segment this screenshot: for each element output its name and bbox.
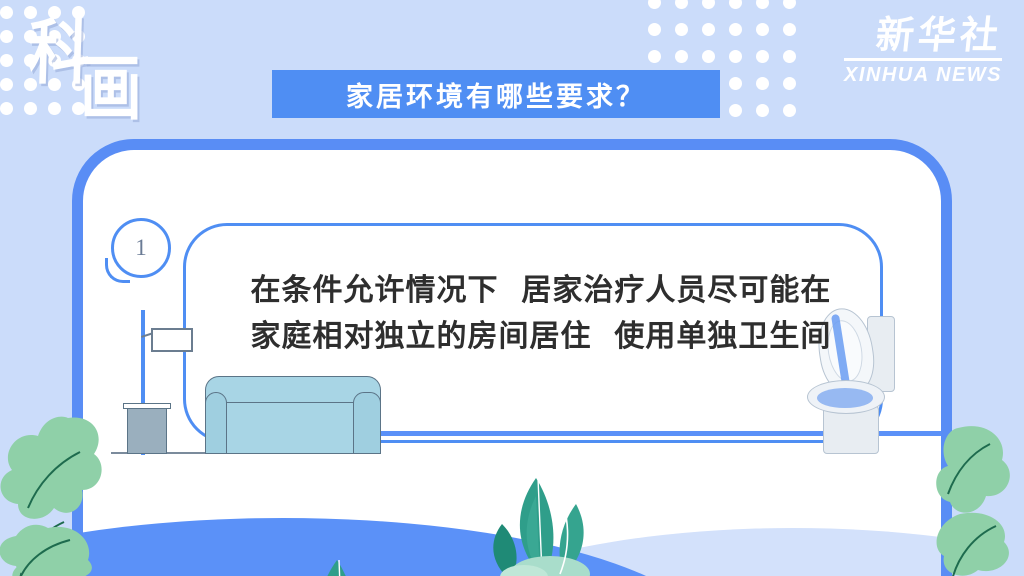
dot (648, 0, 661, 9)
dot (648, 23, 661, 36)
side-table-icon (127, 408, 167, 454)
dot (0, 30, 13, 43)
body-text-line-1: 在条件允许情况下 居家治疗人员尽可能在 (201, 268, 881, 314)
xinhua-logo-chinese: 新华社 (842, 16, 1004, 56)
dot (729, 0, 742, 9)
program-logo: 科 画 (28, 16, 163, 126)
dot (0, 78, 13, 91)
sofa-arm-right-icon (353, 392, 381, 454)
floor-lamp-shade-icon (151, 328, 193, 352)
plant-cluster-bottom-center (478, 470, 628, 576)
dot (729, 50, 742, 63)
plant-cluster-outer-left-lower (0, 520, 140, 576)
dot (756, 0, 769, 9)
dot (675, 50, 688, 63)
poster-canvas: 科 画 新华社 XINHUA NEWS 家居环境有哪些要求？ 1 在条件允许情况… (0, 0, 1024, 576)
dot (756, 104, 769, 117)
body-text-line-2: 家庭相对独立的房间居住 使用单独卫生间 (201, 314, 881, 360)
side-table-top-icon (123, 403, 171, 409)
step-number-badge: 1 (111, 218, 171, 278)
dot (783, 50, 796, 63)
dot (0, 54, 13, 67)
plant-cluster-inner-left (263, 538, 453, 576)
dot (648, 50, 661, 63)
dot (756, 23, 769, 36)
dot (756, 50, 769, 63)
dot (729, 104, 742, 117)
xinhua-logo-english: XINHUA NEWS (844, 64, 1002, 87)
dot (675, 0, 688, 9)
body-text: 在条件允许情况下 居家治疗人员尽可能在 家庭相对独立的房间居住 使用单独卫生间 (201, 268, 881, 359)
dot (729, 77, 742, 90)
program-logo-char-1: 科 (27, 17, 87, 88)
dot (702, 23, 715, 36)
step-number-label: 1 (135, 235, 147, 261)
dot (0, 102, 13, 115)
plant-cluster-outer-right (930, 424, 1024, 576)
dot (702, 0, 715, 9)
dot (675, 23, 688, 36)
page-title-banner: 家居环境有哪些要求？ (272, 70, 720, 118)
xinhua-news-logo: 新华社 XINHUA NEWS (844, 16, 1002, 87)
sofa-arm-left-icon (205, 392, 227, 454)
dot (756, 77, 769, 90)
page-title: 家居环境有哪些要求？ (346, 75, 646, 114)
dot (0, 6, 13, 19)
dot (783, 0, 796, 9)
program-logo-char-2: 画 (80, 53, 138, 124)
toilet-seat-icon (817, 388, 873, 408)
dot (729, 23, 742, 36)
dot (783, 23, 796, 36)
dot (783, 104, 796, 117)
dot (702, 50, 715, 63)
dot (783, 77, 796, 90)
xinhua-logo-divider (844, 58, 1002, 61)
